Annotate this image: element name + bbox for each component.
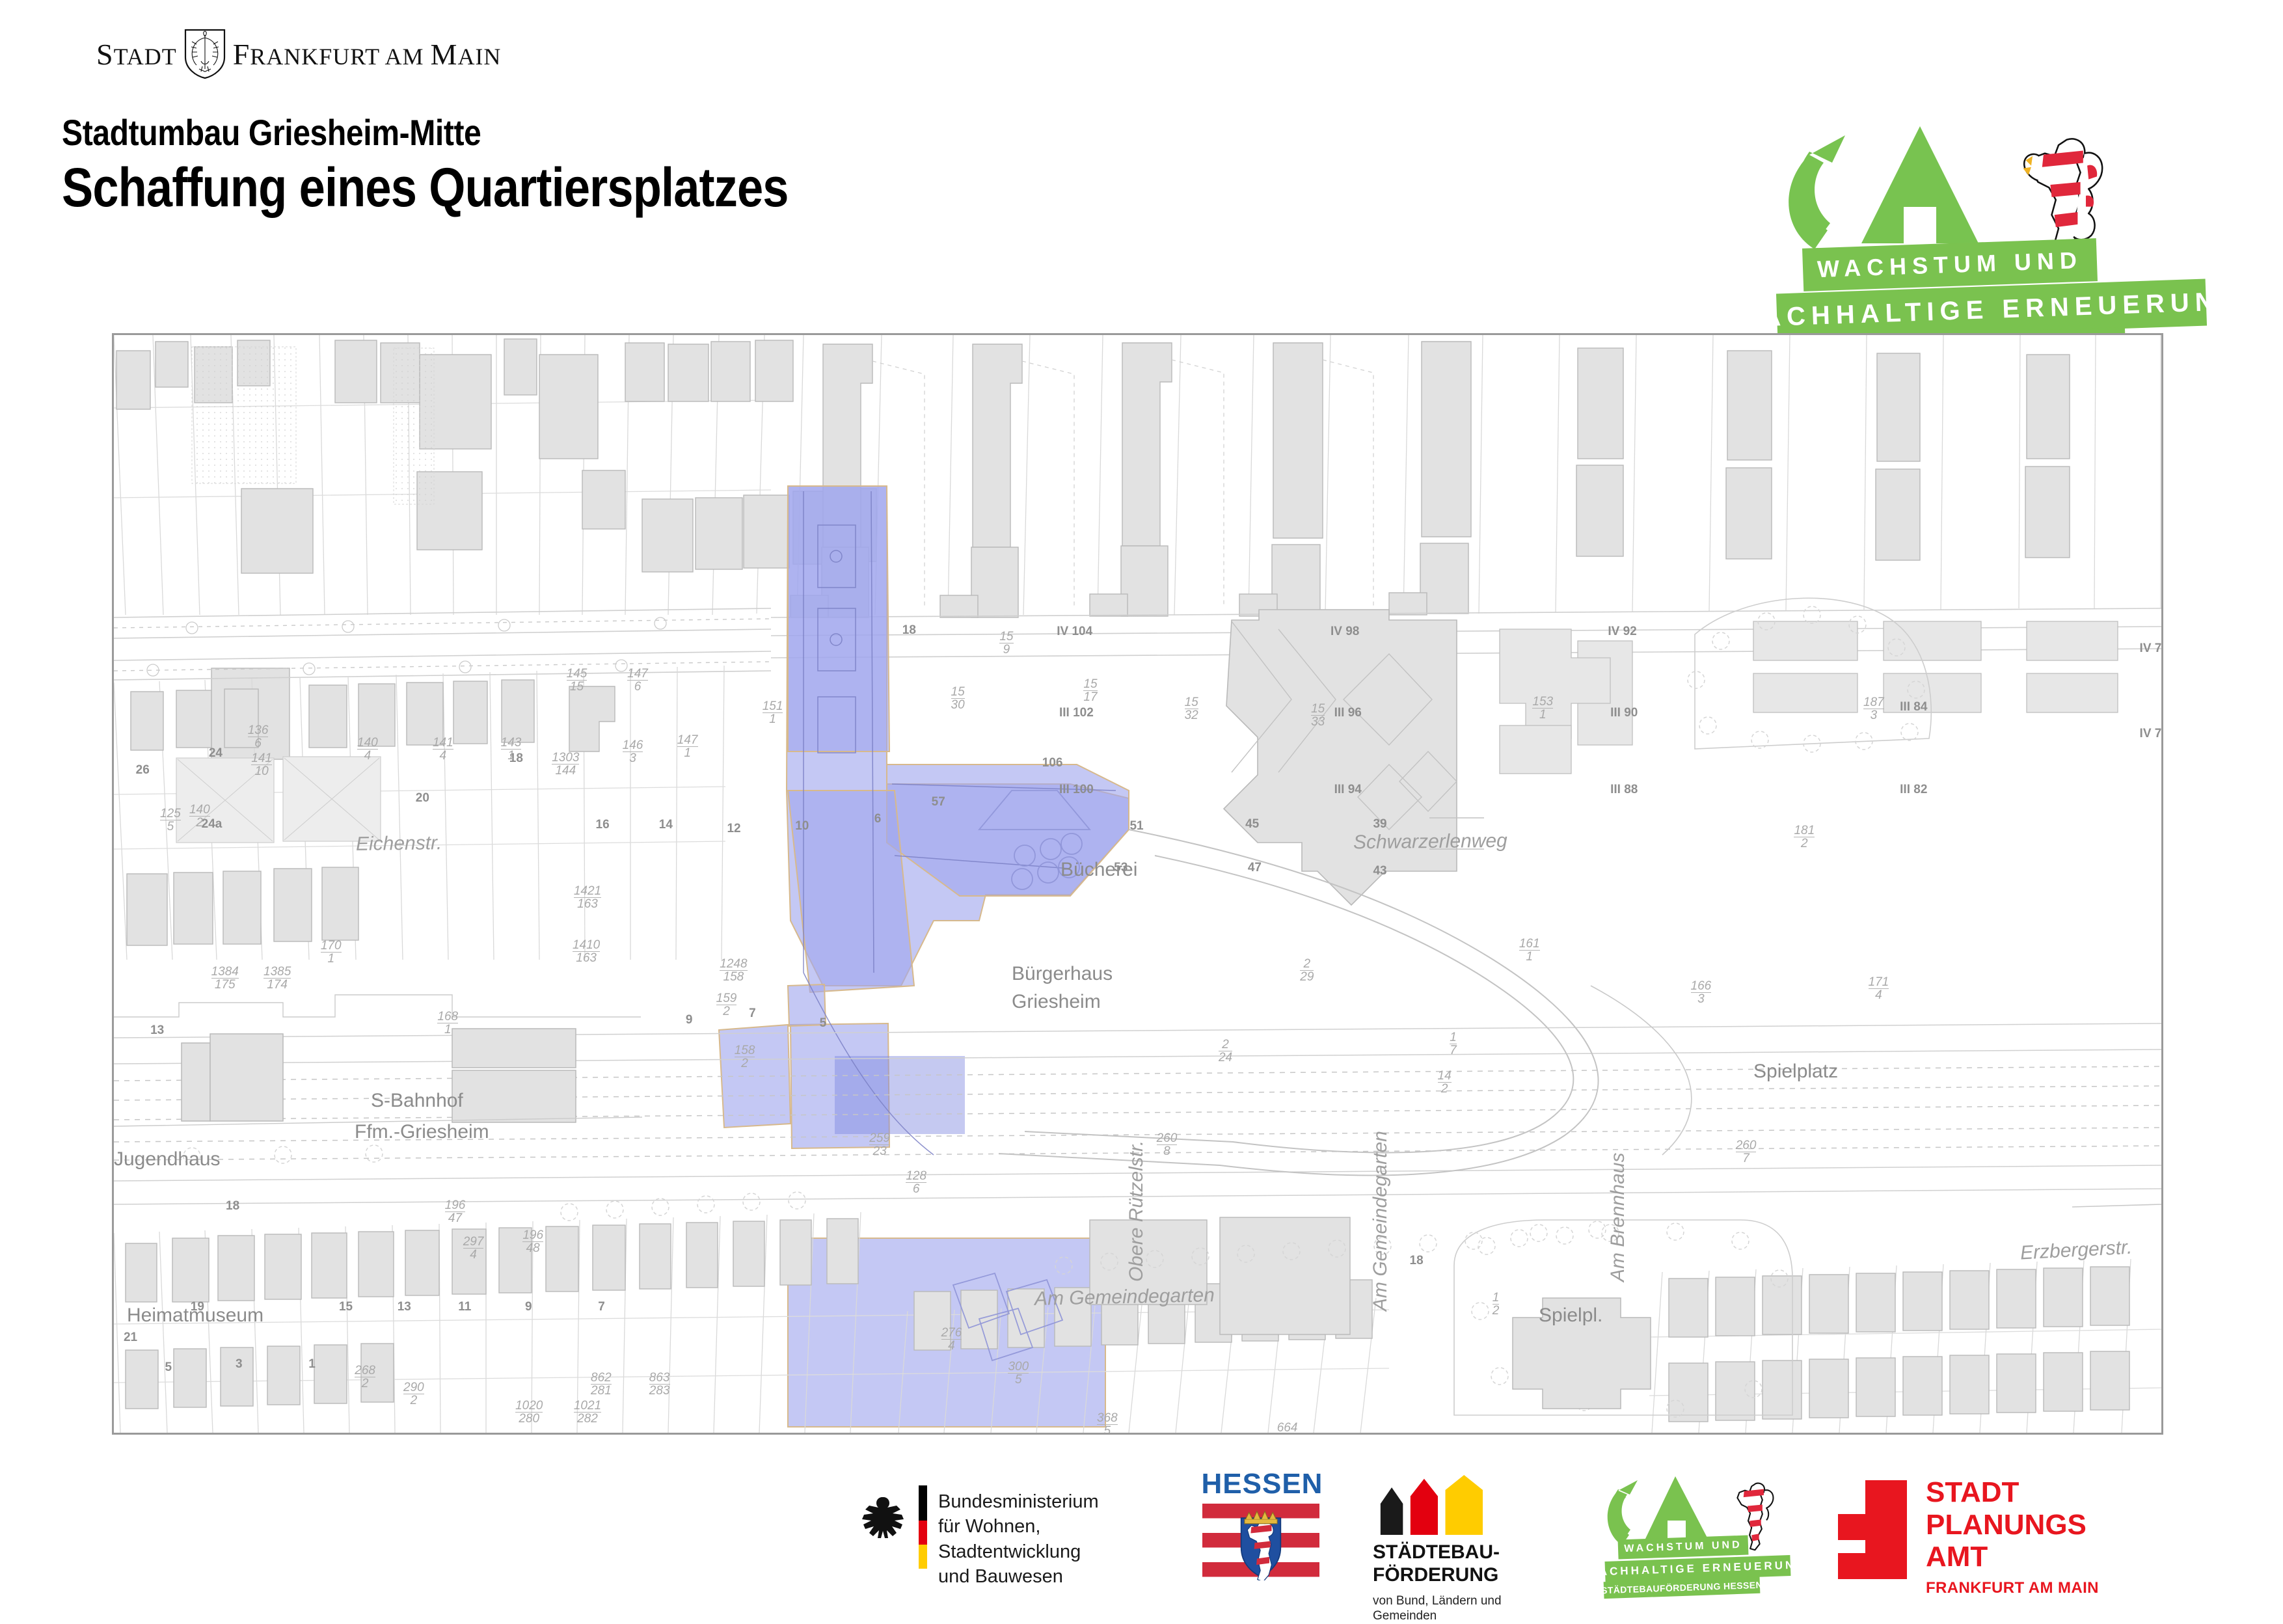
frankfurt-eagle-crest-icon bbox=[183, 29, 226, 79]
staedtebau-line-4: Gemeinden bbox=[1373, 1608, 1587, 1624]
bundesadler-icon bbox=[859, 1495, 906, 1545]
cadastral-map[interactable]: Eichenstr. Schwarzerlenweg Erzbergerstr.… bbox=[112, 333, 2163, 1435]
bmwsb-text: Bundesministerium für Wohnen, Stadtentwi… bbox=[938, 1489, 1165, 1589]
bmwsb-line-3: und Bauwesen bbox=[938, 1564, 1165, 1589]
staedtebau-line-1: STÄDTEBAU- bbox=[1373, 1541, 1587, 1564]
spa-line-1: STADT bbox=[1926, 1476, 2087, 1509]
staedtebau-line-2: FÖRDERUNG bbox=[1373, 1564, 1587, 1587]
hessen-label: HESSEN bbox=[1197, 1470, 1327, 1498]
spa-line-2: PLANUNGS bbox=[1926, 1509, 2087, 1541]
hessen-logo: HESSEN bbox=[1197, 1470, 1327, 1593]
bmwsb-logo: Bundesministerium für Wohnen, Stadtentwi… bbox=[859, 1479, 1165, 1577]
stadtplanungsamt-words: STADT PLANUNGS AMT bbox=[1926, 1476, 2087, 1573]
page-title: Schaffung eines Quartiersplatzes bbox=[62, 159, 789, 216]
wachstum-small-logo: WACHSTUM UND NACHHALTIGE ERNEUERUNG STÄD… bbox=[1604, 1472, 1799, 1599]
footer-logos: Bundesministerium für Wohnen, Stadtentwi… bbox=[0, 1461, 2283, 1614]
german-flag-bar bbox=[919, 1485, 927, 1569]
staedtebaufoerderung-logo: STÄDTEBAU- FÖRDERUNG von Bund, Ländern u… bbox=[1373, 1475, 1587, 1595]
hessen-coat-of-arms-icon bbox=[1202, 1504, 1319, 1591]
city-logo-word-frankfurt: FRANKFURT AM MAIN bbox=[233, 37, 502, 72]
staedtebau-text: STÄDTEBAU- FÖRDERUNG bbox=[1373, 1541, 1587, 1587]
city-logo-word-stadt: STADT bbox=[96, 37, 177, 72]
map-canvas bbox=[114, 335, 2161, 1433]
staedtebau-subtext: von Bund, Ländern und Gemeinden bbox=[1373, 1593, 1587, 1624]
bmwsb-line-1: Bundesministerium bbox=[938, 1489, 1165, 1514]
three-houses-icon bbox=[1373, 1475, 1587, 1535]
stadtplanungsamt-block-mark-icon bbox=[1838, 1480, 1907, 1579]
spa-subline: FRANKFURT AM MAIN bbox=[1926, 1579, 2099, 1597]
page-header: STADT FRANKFURT AM MAIN Stadtumbau bbox=[0, 0, 2283, 306]
title-block: Stadtumbau Griesheim-Mitte Schaffung ein… bbox=[62, 114, 906, 216]
staedtebau-line-3: von Bund, Ländern und bbox=[1373, 1593, 1587, 1609]
page-subtitle: Stadtumbau Griesheim-Mitte bbox=[62, 114, 789, 152]
stadtplanungsamt-logo: STADT PLANUNGS AMT FRANKFURT AM MAIN bbox=[1838, 1480, 2176, 1597]
bmwsb-line-2: für Wohnen, Stadtentwicklung bbox=[938, 1514, 1165, 1564]
spa-line-3: AMT bbox=[1926, 1541, 2087, 1573]
green-recycle-arrow-icon bbox=[1789, 126, 1979, 249]
city-of-frankfurt-logo: STADT FRANKFURT AM MAIN bbox=[96, 31, 501, 77]
